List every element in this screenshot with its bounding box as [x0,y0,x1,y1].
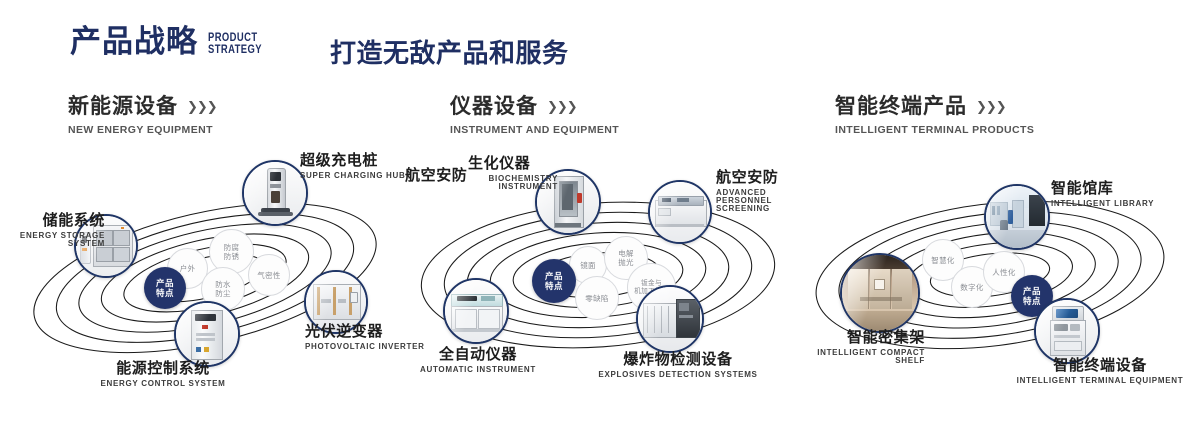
node-label-en: ENERGY CONTROL SYSTEM [83,380,243,388]
compact-shelf-photo [842,255,918,331]
section-title-cn: 仪器设备 ❯❯❯ [450,96,619,117]
photo-bubble-self-service-kiosk [1034,298,1100,364]
photo-bubble-personnel-screening-machine [648,180,712,244]
photo-bubble-energy-control-cabinet [174,301,240,367]
node-label-biochemistry-instrument: 生化仪器 BIOCHEMISTRY INSTRUMENT [468,156,558,191]
node-label-cn: 生化仪器 [468,156,558,171]
photo-bubble-explosives-detector [636,285,704,353]
explosives-detector-photo [638,287,702,351]
node-label-explosives-detection-systems: 爆炸物检测设备 EXPLOSIVES DETECTION SYSTEMS [583,352,773,379]
node-label-intelligent-library: 智能馆库 INTELLIGENT LIBRARY [1051,181,1154,208]
node-label-super-charging-hub: 超级充电桩 SUPER CHARGING HUB [300,153,406,180]
page-title-en-line1: PRODUCT [208,32,262,44]
page-title-en-line2: STRATEGY [208,44,262,56]
section-title-cn-text: 仪器设备 [450,96,538,117]
core-bubble-product-features: 产品特点 [532,259,576,303]
section-title-cn-text: 新能源设备 [68,96,178,117]
product-strategy-infographic: 产品战略 PRODUCT STRATEGY 打造无敌产品和服务 新能源设备 ❯❯… [0,0,1200,422]
node-label-en: ADVANCED PERSONNEL SCREENING [716,189,798,213]
feature-bubble-text: 防腐防锈 [224,243,240,261]
node-label-cn: 航空安防 [716,170,798,185]
self-service-kiosk-photo [1036,300,1098,362]
feature-bubble-text: 人性化 [992,268,1015,277]
feature-bubble-text: 智慧化 [931,256,954,265]
node-label-en: EXPLOSIVES DETECTION SYSTEMS [583,371,773,379]
cluster-new-energy-equipment: 户外 防腐防锈 防水防尘 气密性 产品特点 [5,150,405,400]
feature-bubble: 零缺陷 [575,276,619,320]
node-label-en: AUTOMATIC INSTRUMENT [398,366,558,374]
page-subtitle: 打造无敌产品和服务 [330,33,569,70]
feature-bubble-text: 户外 [180,264,196,273]
chevron-right-triple-icon: ❯❯❯ [547,100,577,113]
node-label-en: BIOCHEMISTRY INSTRUMENT [468,175,558,191]
photo-bubble-super-charging-hub [242,160,308,226]
node-label-en: INTELLIGENT COMPACT SHELF [813,349,925,365]
node-label-en: ENERGY STORAGE SYSTEM [0,232,105,248]
energy-control-cabinet-photo [176,303,238,365]
page-title-en: PRODUCT STRATEGY [208,32,262,56]
feature-bubble: 气密性 [248,254,290,296]
intelligent-library-photo [986,186,1048,248]
node-label-cn: 航空安防 [405,168,467,183]
node-label-en: SUPER CHARGING HUB [300,172,406,180]
section-title-cn: 新能源设备 ❯❯❯ [68,96,217,117]
section-title-en: INSTRUMENT AND EQUIPMENT [450,124,619,136]
section-title-new-energy-equipment: 新能源设备 ❯❯❯ NEW ENERGY EQUIPMENT [68,96,217,136]
section-title-instrument-and-equipment: 仪器设备 ❯❯❯ INSTRUMENT AND EQUIPMENT [450,96,619,136]
section-title-intelligent-terminal-products: 智能终端产品 ❯❯❯ INTELLIGENT TERMINAL PRODUCTS [835,96,1034,136]
node-label-cn: 智能终端设备 [1000,358,1200,373]
feature-bubble-text: 零缺陷 [585,294,608,303]
photo-bubble-intelligent-library [984,184,1050,250]
section-title-cn: 智能终端产品 ❯❯❯ [835,96,1034,117]
section-title-en: INTELLIGENT TERMINAL PRODUCTS [835,124,1034,136]
node-label-cn: 能源控制系统 [83,361,243,376]
feature-bubble-text: 镜面 [580,261,596,270]
node-label-intelligent-compact-shelf: 智能密集架 INTELLIGENT COMPACT SHELF [780,330,925,365]
feature-bubble-text: 气密性 [257,271,280,280]
chevron-right-triple-icon: ❯❯❯ [187,100,217,113]
node-label-aviation-security-left: 航空安防 [405,168,467,183]
automatic-instrument-photo [445,280,507,342]
node-label-en: INTELLIGENT LIBRARY [1051,200,1154,208]
node-label-cn: 超级充电桩 [300,153,406,168]
feature-bubble-text: 数字化 [960,283,983,292]
node-label-energy-control-system: 能源控制系统 ENERGY CONTROL SYSTEM [83,361,243,388]
photo-bubble-automatic-instrument [443,278,509,344]
node-label-automatic-instrument: 全自动仪器 AUTOMATIC INSTRUMENT [398,347,558,374]
photo-bubble-compact-shelf [840,253,920,333]
node-label-cn: 智能密集架 [780,330,925,345]
page-title-cn: 产品战略 [70,26,198,57]
section-title-en: NEW ENERGY EQUIPMENT [68,124,217,136]
node-label-intelligent-terminal-equipment: 智能终端设备 INTELLIGENT TERMINAL EQUIPMENT [1000,358,1200,385]
section-title-cn-text: 智能终端产品 [835,96,967,117]
node-label-advanced-personnel-screening: 航空安防 ADVANCED PERSONNEL SCREENING [716,170,798,213]
cluster-intelligent-terminal-products: 智慧化 数字化 人性化 产品特点 [795,150,1195,400]
page-header: 产品战略 PRODUCT STRATEGY [70,26,274,57]
core-bubble-text: 产品特点 [156,278,174,298]
node-label-en: INTELLIGENT TERMINAL EQUIPMENT [1000,377,1200,385]
feature-bubble-text: 电解抛光 [618,249,634,267]
node-label-energy-storage-system: 储能系统 ENERGY STORAGE SYSTEM [0,213,105,248]
cluster-instrument-and-equipment: 镜面 电解抛光 零缺陷 钣金与机加工结合 产品特点 [398,150,798,400]
node-label-cn: 智能馆库 [1051,181,1154,196]
node-label-cn: 全自动仪器 [398,347,558,362]
core-bubble-text: 产品特点 [545,271,563,291]
feature-bubble-text: 防水防尘 [215,280,231,298]
personnel-screening-machine-photo [650,182,710,242]
node-label-cn: 储能系统 [0,213,105,228]
node-label-cn: 爆炸物检测设备 [583,352,773,367]
super-charging-hub-photo [244,162,306,224]
chevron-right-triple-icon: ❯❯❯ [976,100,1006,113]
